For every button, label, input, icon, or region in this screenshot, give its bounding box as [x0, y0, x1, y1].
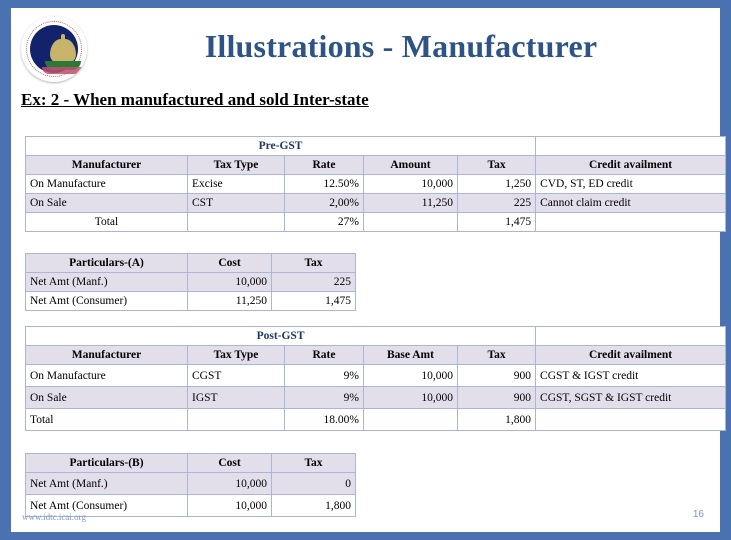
table-header-row: Manufacturer Tax Type Rate Amount Tax Cr…: [26, 156, 726, 175]
table-row: On Manufacture CGST 9% 10,000 900 CGST &…: [26, 365, 726, 387]
cell-total-base-amt: [364, 409, 458, 431]
cell-tax-type: IGST: [188, 387, 285, 409]
table-total-row: Total 27% 1,475: [26, 213, 726, 232]
band-blank-cell: [536, 137, 726, 156]
table-row: Net Amt (Manf.) 10,000 225: [26, 273, 356, 292]
cell-total-credit: [536, 409, 726, 431]
column-header-cost: Cost: [188, 454, 272, 473]
cell-rate: 2,00%: [285, 194, 364, 213]
column-header-tax: Tax: [272, 454, 356, 473]
cell-tax: 1,800: [272, 495, 356, 517]
table-post-gst: Post-GST Manufacturer Tax Type Rate Base…: [25, 326, 726, 431]
table-total-row: Total 18.00% 1,800: [26, 409, 726, 431]
column-header-amount: Amount: [364, 156, 458, 175]
cell-base-amt: 10,000: [364, 387, 458, 409]
cell-cost: 10,000: [188, 273, 272, 292]
cell-tax: 900: [458, 365, 536, 387]
cell-tax: 1,475: [272, 292, 356, 311]
cell-tax-type: Excise: [188, 175, 285, 194]
cell-total-rate: 18.00%: [285, 409, 364, 431]
cell-total-label: Total: [26, 409, 188, 431]
cell-total-tax: 1,800: [458, 409, 536, 431]
column-header-tax: Tax: [458, 156, 536, 175]
cell-credit-availment: CVD, ST, ED credit: [536, 175, 726, 194]
icai-idtc-logo-icon: [21, 16, 87, 82]
logo-body: [30, 25, 78, 73]
cell-tax: 1,250: [458, 175, 536, 194]
band-blank-cell: [536, 327, 726, 346]
cell-tax: 900: [458, 387, 536, 409]
column-header-particulars: Particulars-(A): [26, 254, 188, 273]
column-header-rate: Rate: [285, 346, 364, 365]
cell-credit-availment: CGST, SGST & IGST credit: [536, 387, 726, 409]
cell-credit-availment: Cannot claim credit: [536, 194, 726, 213]
band-title-pre-gst: Pre-GST: [26, 137, 536, 156]
column-header-tax: Tax: [458, 346, 536, 365]
column-header-cost: Cost: [188, 254, 272, 273]
cell-cost: 10,000: [188, 473, 272, 495]
cell-particulars: Net Amt (Manf.): [26, 273, 188, 292]
cell-manufacturer: On Manufacture: [26, 175, 188, 194]
table-row-band: Post-GST: [26, 327, 726, 346]
table-row: On Manufacture Excise 12.50% 10,000 1,25…: [26, 175, 726, 194]
table-header-row: Manufacturer Tax Type Rate Base Amt Tax …: [26, 346, 726, 365]
table-row: Net Amt (Manf.) 10,000 0: [26, 473, 356, 495]
cell-tax: 225: [272, 273, 356, 292]
column-header-credit-availment: Credit availment: [536, 156, 726, 175]
column-header-manufacturer: Manufacturer: [26, 156, 188, 175]
cell-amount: 10,000: [364, 175, 458, 194]
table-pre-gst: Pre-GST Manufacturer Tax Type Rate Amoun…: [25, 136, 726, 232]
cell-particulars: Net Amt (Consumer): [26, 292, 188, 311]
column-header-credit-availment: Credit availment: [536, 346, 726, 365]
slide-subtitle: Ex: 2 - When manufactured and sold Inter…: [21, 90, 369, 110]
cell-manufacturer: On Manufacture: [26, 365, 188, 387]
cell-cost: 11,250: [188, 292, 272, 311]
cell-tax: 0: [272, 473, 356, 495]
cell-total-tax: 1,475: [458, 213, 536, 232]
cell-tax: 225: [458, 194, 536, 213]
slide-frame: Illustrations - Manufacturer Ex: 2 - Whe…: [0, 0, 731, 540]
page-title: Illustrations - Manufacturer: [101, 28, 701, 65]
cell-total-tax-type: [188, 409, 285, 431]
cell-total-rate: 27%: [285, 213, 364, 232]
cell-rate: 12.50%: [285, 175, 364, 194]
table-row: Net Amt (Consumer) 11,250 1,475: [26, 292, 356, 311]
column-header-rate: Rate: [285, 156, 364, 175]
table-header-row: Particulars-(B) Cost Tax: [26, 454, 356, 473]
band-title-post-gst: Post-GST: [26, 327, 536, 346]
cell-credit-availment: CGST & IGST credit: [536, 365, 726, 387]
column-header-tax-type: Tax Type: [188, 156, 285, 175]
cell-tax-type: CGST: [188, 365, 285, 387]
cell-tax-type: CST: [188, 194, 285, 213]
cell-total-amount: [364, 213, 458, 232]
column-header-tax: Tax: [272, 254, 356, 273]
cell-amount: 11,250: [364, 194, 458, 213]
cell-particulars: Net Amt (Manf.): [26, 473, 188, 495]
logo-base-pink: [42, 67, 84, 74]
cell-total-label: Total: [26, 213, 188, 232]
table-particulars-a: Particulars-(A) Cost Tax Net Amt (Manf.)…: [25, 253, 356, 311]
column-header-base-amt: Base Amt: [364, 346, 458, 365]
column-header-tax-type: Tax Type: [188, 346, 285, 365]
cell-base-amt: 10,000: [364, 365, 458, 387]
cell-total-tax-type: [188, 213, 285, 232]
table-header-row: Particulars-(A) Cost Tax: [26, 254, 356, 273]
table-row-band: Pre-GST: [26, 137, 726, 156]
cell-total-credit: [536, 213, 726, 232]
column-header-manufacturer: Manufacturer: [26, 346, 188, 365]
page-number: 16: [693, 509, 704, 520]
table-particulars-b: Particulars-(B) Cost Tax Net Amt (Manf.)…: [25, 453, 356, 517]
cell-manufacturer: On Sale: [26, 387, 188, 409]
cell-cost: 10,000: [188, 495, 272, 517]
cell-rate: 9%: [285, 387, 364, 409]
table-row: On Sale CST 2,00% 11,250 225 Cannot clai…: [26, 194, 726, 213]
cell-manufacturer: On Sale: [26, 194, 188, 213]
logo-disc: [21, 16, 87, 82]
column-header-particulars: Particulars-(B): [26, 454, 188, 473]
footer-url[interactable]: www.idtc.icai.org: [22, 512, 86, 522]
table-row: On Sale IGST 9% 10,000 900 CGST, SGST & …: [26, 387, 726, 409]
slide-canvas: Illustrations - Manufacturer Ex: 2 - Whe…: [11, 8, 720, 532]
cell-rate: 9%: [285, 365, 364, 387]
